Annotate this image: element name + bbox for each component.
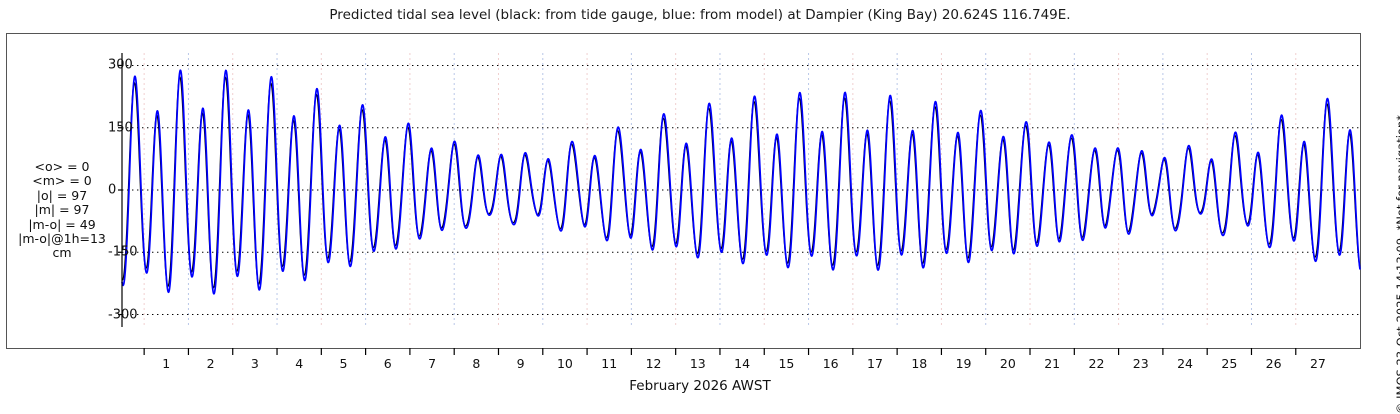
x-axis-title: February 2026 AWST xyxy=(0,378,1400,394)
horizontal-gridlines xyxy=(122,65,1360,314)
statistics-block: <o> = 0 <m> = 0 |o| = 97 |m| = 97 |m-o| … xyxy=(6,160,118,261)
x-axis-ticks xyxy=(122,348,1364,362)
y-tick-label-4: -300 xyxy=(108,307,138,322)
tide-series-svg xyxy=(122,53,1360,327)
series-model xyxy=(122,70,1360,293)
y-tick-label-0: 300 xyxy=(108,58,133,73)
chart-title: Predicted tidal sea level (black: from t… xyxy=(0,7,1400,23)
credit-wrapper: © IMOS 23-Oct-2025 14:13:09. *Not for na… xyxy=(1371,14,1393,386)
y-tick-label-1: 150 xyxy=(108,120,133,135)
tide-plot xyxy=(122,53,1360,327)
imos-credit: © IMOS 23-Oct-2025 14:13:09. *Not for na… xyxy=(1394,14,1400,414)
